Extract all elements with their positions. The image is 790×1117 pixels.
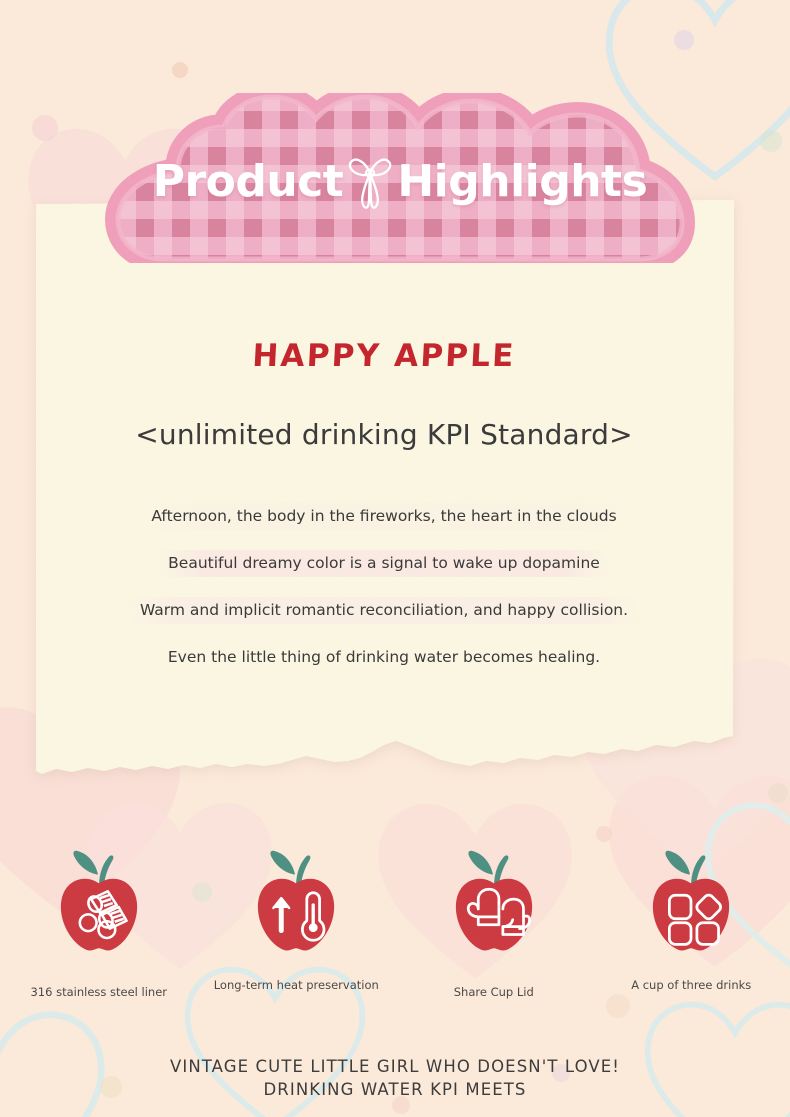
apple-badge <box>435 848 553 966</box>
steel-pipes-icon <box>40 848 158 966</box>
footer-line-1: VINTAGE CUTE LITTLE GIRL WHO DOESN'T LOV… <box>0 1056 790 1079</box>
footer-slogan: VINTAGE CUTE LITTLE GIRL WHO DOESN'T LOV… <box>0 1056 790 1102</box>
decor-dot <box>596 826 612 842</box>
four-tiles-icon <box>632 848 750 966</box>
apple-badge <box>40 848 158 966</box>
feature-item-three-drinks[interactable]: A cup of three drinks <box>593 848 790 999</box>
feature-item-heat-preservation[interactable]: Long-term heat preservation <box>198 848 396 999</box>
mittens-icon <box>435 848 553 966</box>
tagline-1: Afternoon, the body in the fireworks, th… <box>141 503 626 530</box>
feature-label: Share Cup Lid <box>395 985 593 999</box>
product-highlights-banner: Product Highlights <box>100 93 700 263</box>
decor-dot <box>32 115 58 141</box>
page-title: HAPPY APPLE <box>33 338 735 374</box>
tagline-4: Even the little thing of drinking water … <box>158 644 610 671</box>
feature-item-steel-liner[interactable]: 316 stainless steel liner <box>0 848 198 999</box>
faded-ghost-text <box>34 453 734 473</box>
feature-label: 316 stainless steel liner <box>0 985 198 999</box>
footer-line-2: DRINKING WATER KPI MEETS <box>0 1079 790 1102</box>
apple-badge <box>237 848 355 966</box>
feature-item-share-cup-lid[interactable]: Share Cup Lid <box>395 848 593 999</box>
decor-dot <box>760 130 782 152</box>
feature-label: A cup of three drinks <box>593 978 790 992</box>
product-info-card: HAPPY APPLE <unlimited drinking KPI Stan… <box>34 200 734 805</box>
thermometer-up-arrow-icon <box>237 848 355 966</box>
tagline-2: Beautiful dreamy color is a signal to wa… <box>158 550 610 577</box>
kpi-subtitle: <unlimited drinking KPI Standard> <box>34 418 734 451</box>
apple-badge <box>632 848 750 966</box>
feature-label: Long-term heat preservation <box>198 978 396 992</box>
feature-list: 316 stainless steel liner Long-term heat… <box>0 848 790 999</box>
decor-dot <box>172 62 188 78</box>
gingham-cloud-shape <box>100 93 700 263</box>
decor-dot <box>768 783 788 803</box>
tagline-list: Afternoon, the body in the fireworks, th… <box>34 503 734 671</box>
decor-dot <box>674 30 694 50</box>
tagline-3: Warm and implicit romantic reconciliatio… <box>130 597 638 624</box>
